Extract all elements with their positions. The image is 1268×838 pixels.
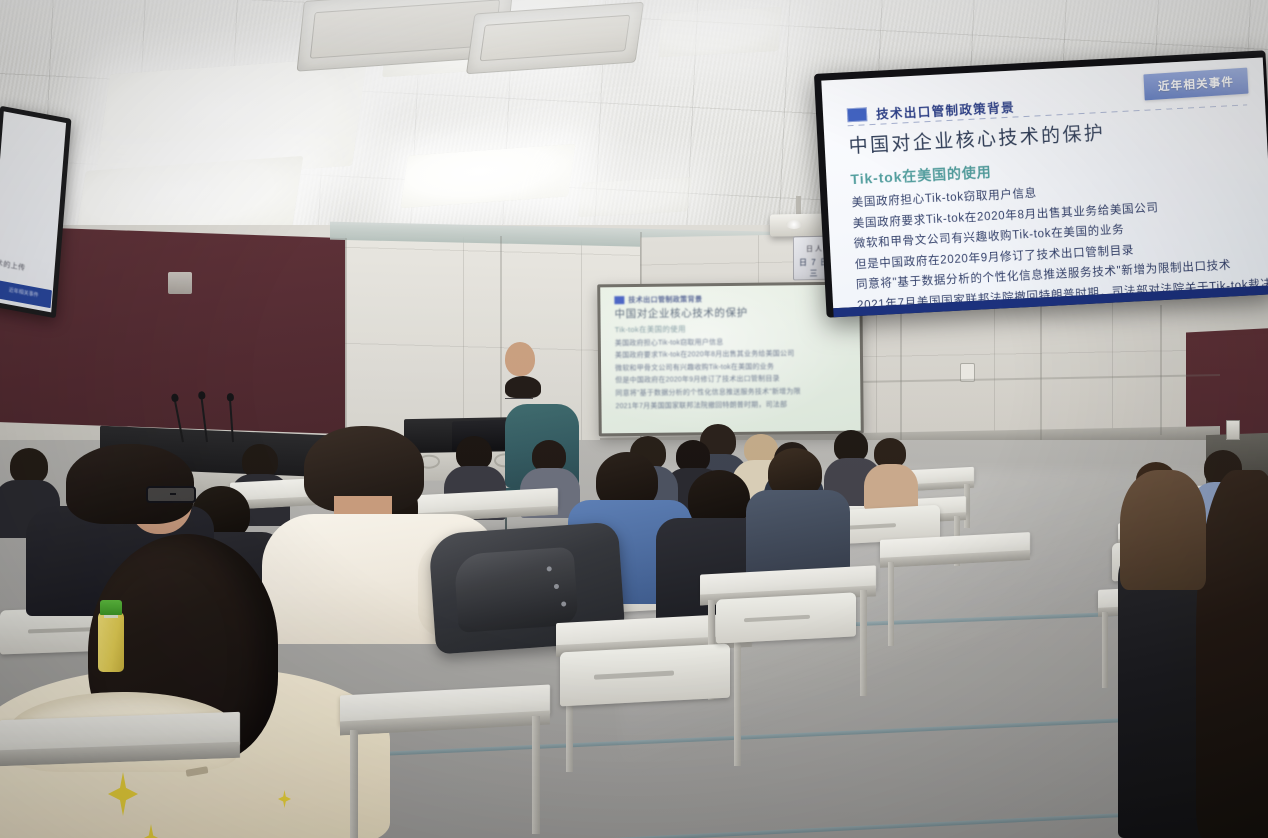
chair-back (560, 644, 730, 707)
student-hair (66, 444, 194, 524)
projection-screen: 技术出口管制政策背景 中国对企业核心技术的保护 Tik-tok在美国的使用 美国… (597, 282, 864, 437)
eyeglasses (146, 486, 196, 503)
wall-seam (345, 238, 347, 444)
slide-bullet-square-icon (614, 296, 624, 304)
ceiling-light-panel (578, 177, 692, 217)
left-monitor-bar-label: 近年相关事件 (0, 284, 52, 301)
wall-seam (500, 236, 502, 448)
ceiling-ac-vent (466, 2, 644, 75)
wall-mounted-display[interactable]: 近年相关事件 技术出口管制政策背景 中国对企业核心技术的保护 Tik-tok在美… (814, 50, 1268, 317)
lecture-hall-photo: 术的上传 近年相关事件 日 人 日 7 日 三 技术出口管制政策背景 中国对企业… (0, 0, 1268, 838)
projection-slide-bullet: 美国政府要求Tik-tok在2020年8月出售其业务给美国公司 (615, 348, 854, 361)
projection-slide-bullet: 微软和甲骨文公司有兴趣收购Tik-tok在美国的业务 (615, 360, 854, 373)
projection-slide-bullet: 但是中国政府在2020年9月修订了技术出口管制目录 (615, 373, 854, 386)
projector-mount-arm (796, 196, 801, 216)
wall-seam (1160, 305, 1162, 435)
wall-seam (1040, 300, 1042, 440)
slide-bullet-square-icon (847, 107, 868, 122)
projection-slide-title: 中国对企业核心技术的保护 (614, 304, 853, 322)
slide-header-label: 技术出口管制政策背景 (876, 97, 1016, 123)
projection-slide-header-label: 技术出口管制政策背景 (628, 294, 702, 305)
presenter (505, 342, 583, 454)
ceiling-light-panel (658, 7, 782, 58)
left-monitor-text: 术的上传 (0, 258, 60, 280)
juice-bottle (98, 612, 124, 672)
projection-slide-bullet: 同意将"基于数据分析的个性化信息推送服务技术"新增为限 (615, 386, 854, 399)
projection-slide-subtitle: Tik-tok在美国的使用 (615, 322, 854, 336)
wall-seam (900, 300, 902, 440)
presenter-glasses (505, 398, 533, 404)
projection-slide-bullet: 美国政府担心Tik-tok窃取用户信息 (615, 335, 854, 348)
student-right-far (1120, 470, 1206, 590)
student (750, 448, 846, 578)
left-monitor-bottom-bar: 近年相关事件 (0, 280, 52, 308)
projector-lens (786, 220, 802, 229)
student-long-hair-right (1196, 470, 1268, 838)
presenter-hair (505, 376, 541, 398)
bottle-cap (100, 600, 122, 615)
display-screen: 近年相关事件 技术出口管制政策背景 中国对企业核心技术的保护 Tik-tok在美… (821, 57, 1268, 308)
cabinet-item (1226, 420, 1240, 440)
chair-back (716, 592, 856, 643)
student-foreground-hoodie (0, 540, 390, 838)
wall-mounted-box (168, 272, 192, 294)
student (866, 438, 914, 502)
